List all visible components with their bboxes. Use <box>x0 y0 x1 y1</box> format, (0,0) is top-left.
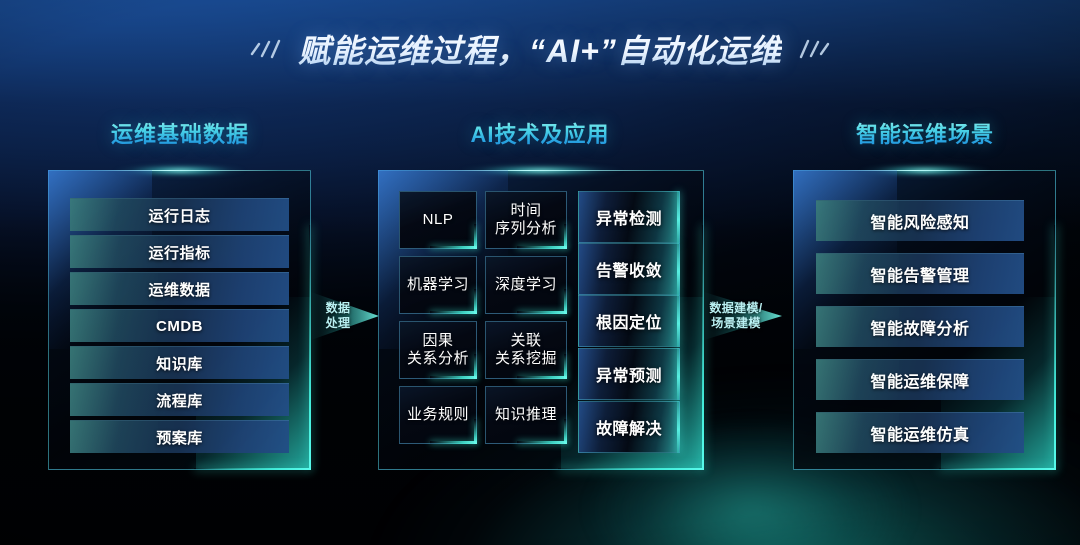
capability-tile[interactable]: 异常检测 <box>578 191 680 243</box>
list-item[interactable]: 运维数据 <box>70 272 289 305</box>
panel-edge-bottom-glow <box>939 468 1056 470</box>
tile-glow-bottom <box>430 376 477 379</box>
tech-tile[interactable]: NLP <box>399 191 477 249</box>
slide-title-bar: 赋能运维过程，“AI+”自动化运维 <box>0 24 1080 74</box>
capability-tile[interactable]: 异常预测 <box>578 348 680 400</box>
list-item[interactable]: CMDB <box>70 309 289 342</box>
tile-glow-right <box>564 289 567 314</box>
tile-glow-bottom <box>430 441 477 444</box>
tech-tile[interactable]: 关联关系挖掘 <box>485 321 567 379</box>
tech-tile[interactable]: 业务规则 <box>399 386 477 444</box>
tech-tile[interactable]: 深度学习 <box>485 256 567 314</box>
tile-glow-right <box>564 224 567 249</box>
tile-glow-right <box>564 419 567 444</box>
tile-glow-right <box>474 354 477 379</box>
capability-tile[interactable]: 根因定位 <box>578 295 680 347</box>
list-item[interactable]: 知识库 <box>70 346 289 379</box>
list-item[interactable]: 智能运维保障 <box>816 359 1024 400</box>
tech-tile[interactable]: 知识推理 <box>485 386 567 444</box>
tile-glow-right <box>677 295 680 347</box>
column-title-ops-base-data: 运维基础数据 <box>48 117 312 149</box>
arrow-label: 数据处理 <box>311 301 379 331</box>
tile-glow-right <box>474 419 477 444</box>
capability-tile[interactable]: 故障解决 <box>578 401 680 453</box>
page-title: 赋能运维过程，“AI+”自动化运维 <box>298 26 782 72</box>
slide-canvas: 赋能运维过程，“AI+”自动化运维 运维基础数据 AI技术及应用 智能运维场景 … <box>0 0 1080 545</box>
list-item[interactable]: 智能告警管理 <box>816 253 1024 294</box>
list-item[interactable]: 运行指标 <box>70 235 289 268</box>
panel-edge-right-glow <box>309 225 311 470</box>
column-title-ai-tech-apps: AI技术及应用 <box>390 117 690 149</box>
tile-glow-bottom <box>517 246 567 249</box>
tech-tile[interactable]: 因果关系分析 <box>399 321 477 379</box>
panel-edge-right-glow <box>702 225 704 470</box>
tile-glow-right <box>474 224 477 249</box>
list-item[interactable]: 智能风险感知 <box>816 200 1024 241</box>
tile-glow-right <box>564 354 567 379</box>
tile-glow-bottom <box>430 246 477 249</box>
tile-glow-bottom <box>517 441 567 444</box>
panel-edge-right-glow <box>1054 225 1056 470</box>
tech-tile[interactable]: 机器学习 <box>399 256 477 314</box>
arrow-label: 数据建模/场景建模 <box>704 301 782 331</box>
panel-top-line <box>825 170 1023 171</box>
capability-tile[interactable]: 告警收敛 <box>578 243 680 295</box>
panel-top-line <box>80 170 278 171</box>
arrow-data-processing: 数据处理 <box>311 288 379 344</box>
tile-glow-bottom <box>430 311 477 314</box>
tile-glow-right <box>677 348 680 400</box>
arrow-modeling: 数据建模/场景建模 <box>704 288 782 344</box>
tile-glow-bottom <box>517 376 567 379</box>
tile-glow-bottom <box>517 311 567 314</box>
panel-top-line <box>418 170 664 171</box>
tile-glow-right <box>677 191 680 243</box>
list-item[interactable]: 预案库 <box>70 420 289 453</box>
column-title-aiops-scenarios: 智能运维场景 <box>790 117 1060 149</box>
list-item[interactable]: 流程库 <box>70 383 289 416</box>
title-decoration-right-icon <box>796 34 830 64</box>
list-item[interactable]: 智能故障分析 <box>816 306 1024 347</box>
tile-glow-right <box>677 401 680 453</box>
tile-glow-right <box>677 243 680 295</box>
panel-edge-bottom-glow <box>558 468 704 470</box>
title-decoration-left-icon <box>250 34 284 64</box>
list-item[interactable]: 智能运维仿真 <box>816 412 1024 453</box>
list-item[interactable]: 运行日志 <box>70 198 289 231</box>
tech-tile[interactable]: 时间序列分析 <box>485 191 567 249</box>
panel-edge-bottom-glow <box>194 468 311 470</box>
tile-glow-right <box>474 289 477 314</box>
